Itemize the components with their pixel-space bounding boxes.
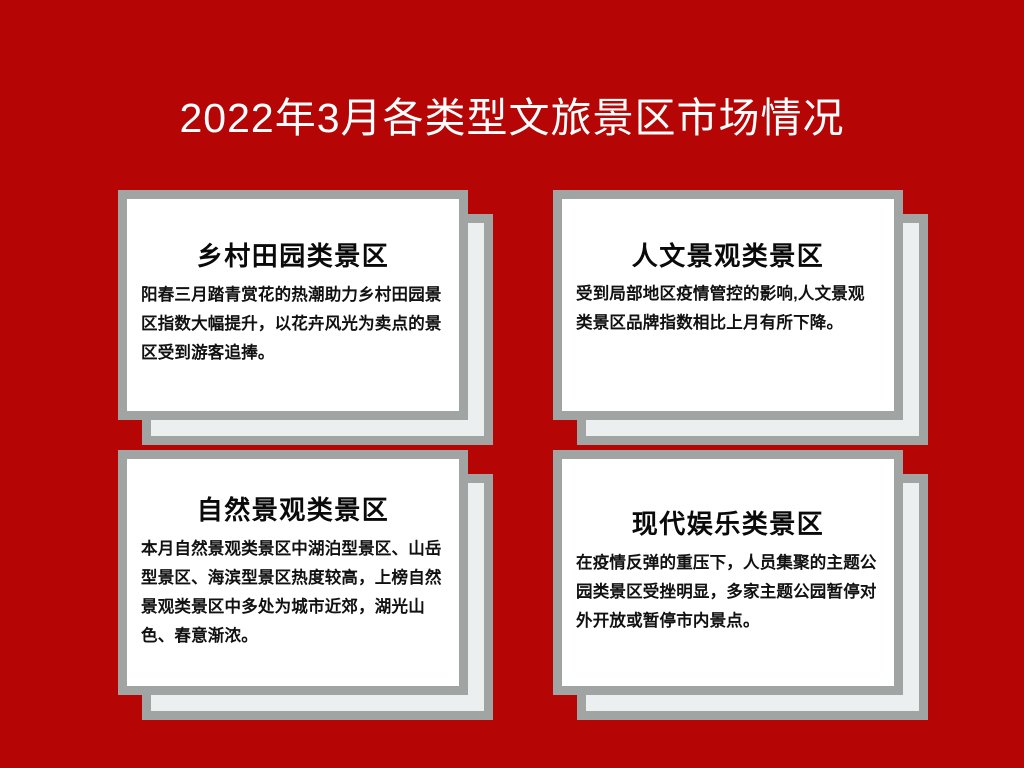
card-front-plate: 自然景观类景区 本月自然景观类景区中湖泊型景区、山岳型景区、海滨型景区热度较高，… (118, 450, 468, 695)
card-rural-countryside[interactable]: 乡村田园类景区 阳春三月踏青赏花的热潮助力乡村田园景区指数大幅提升，以花卉风光为… (118, 190, 468, 420)
card-grid: 乡村田园类景区 阳春三月踏青赏花的热潮助力乡村田园景区指数大幅提升，以花卉风光为… (0, 0, 1024, 768)
card-front-plate: 乡村田园类景区 阳春三月踏青赏花的热潮助力乡村田园景区指数大幅提升，以花卉风光为… (118, 190, 468, 420)
card-body-text: 阳春三月踏青赏花的热潮助力乡村田园景区指数大幅提升，以花卉风光为卖点的景区受到游… (141, 272, 445, 368)
card-body-text: 在疫情反弹的重压下，人员集聚的主题公园类景区受挫明显，多家主题公园暂停对外开放或… (576, 540, 880, 636)
card-heading: 现代娱乐类景区 (576, 459, 880, 540)
card-cultural-landscape[interactable]: 人文景观类景区 受到局部地区疫情管控的影响,人文景观类景区品牌指数相比上月有所下… (553, 190, 903, 420)
card-heading: 自然景观类景区 (141, 459, 445, 526)
card-body-text: 受到局部地区疫情管控的影响,人文景观类景区品牌指数相比上月有所下降。 (576, 272, 880, 338)
card-front-plate: 现代娱乐类景区 在疫情反弹的重压下，人员集聚的主题公园类景区受挫明显，多家主题公… (553, 450, 903, 695)
card-heading: 人文景观类景区 (576, 199, 880, 272)
card-heading: 乡村田园类景区 (141, 199, 445, 272)
card-modern-entertainment[interactable]: 现代娱乐类景区 在疫情反弹的重压下，人员集聚的主题公园类景区受挫明显，多家主题公… (553, 450, 903, 695)
card-body-text: 本月自然景观类景区中湖泊型景区、山岳型景区、海滨型景区热度较高，上榜自然景观类景… (141, 526, 445, 651)
card-natural-landscape[interactable]: 自然景观类景区 本月自然景观类景区中湖泊型景区、山岳型景区、海滨型景区热度较高，… (118, 450, 468, 695)
card-front-plate: 人文景观类景区 受到局部地区疫情管控的影响,人文景观类景区品牌指数相比上月有所下… (553, 190, 903, 420)
